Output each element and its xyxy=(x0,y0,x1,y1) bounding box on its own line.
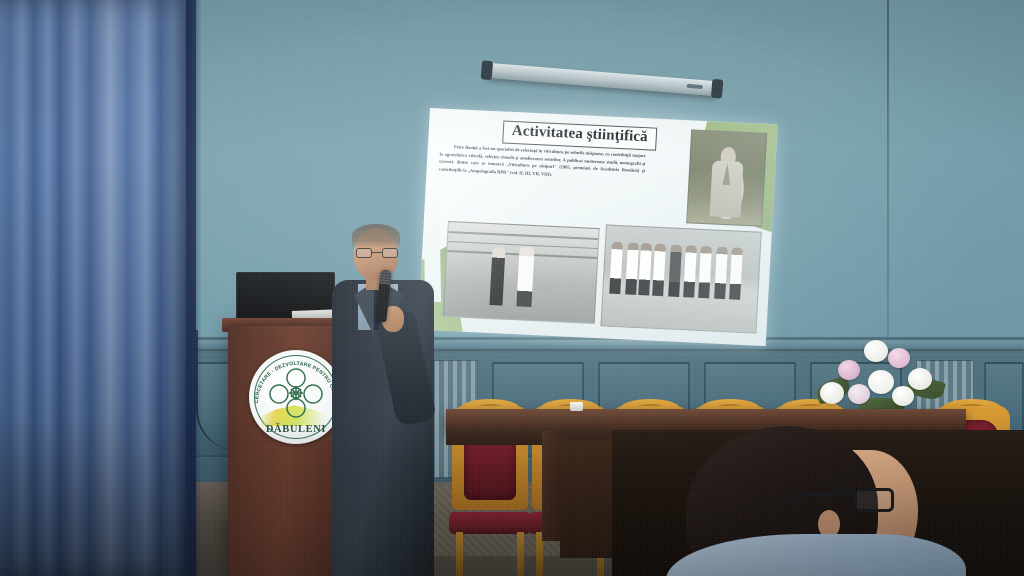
power-cable xyxy=(196,330,236,450)
conference-hall-photo: Activitatea ştiinţifică Petre Baniţă a f… xyxy=(0,0,1024,576)
group-person xyxy=(625,242,639,294)
group-person xyxy=(729,247,743,299)
group-person xyxy=(714,247,728,299)
screen-case-end-cap xyxy=(481,60,493,80)
bouquet-bloom-pink xyxy=(838,360,860,380)
screen-case-slot xyxy=(687,84,703,89)
emblem-label: DĂBULENI xyxy=(249,424,343,435)
bouquet-bloom-white xyxy=(820,382,844,404)
chair-leg xyxy=(517,532,524,576)
group-person xyxy=(668,244,682,296)
microphone-grille xyxy=(379,270,391,285)
bouquet-bloom-white xyxy=(908,368,932,390)
greenhouse-person-suit xyxy=(489,247,505,306)
presenter-hair xyxy=(352,224,400,248)
projected-slide: Activitatea ştiinţifică Petre Baniţă a f… xyxy=(418,108,778,346)
flower-bouquet xyxy=(812,336,948,420)
group-photo xyxy=(600,224,761,333)
bouquet-bloom-white xyxy=(864,340,888,362)
bouquet-bloom-white xyxy=(892,386,914,406)
group-person xyxy=(609,242,623,294)
chair-leg xyxy=(456,532,463,576)
bouquet-bloom-pink xyxy=(888,348,910,368)
slide-body-text: Petre Baniţă a fost un specialist de ref… xyxy=(438,143,645,183)
portrait-photo xyxy=(686,129,767,226)
group-person xyxy=(652,244,666,296)
group-person xyxy=(683,245,697,297)
institution-emblem: STAŢIUNEA DE CERCETARE - DEZVOLTARE PENT… xyxy=(249,350,343,444)
greenhouse-person-labcoat xyxy=(516,246,534,307)
glasses-lens xyxy=(382,248,398,258)
curtain-edge-shadow xyxy=(186,0,202,576)
group-person xyxy=(639,243,653,295)
presenter xyxy=(330,218,452,576)
foreground-attendee xyxy=(676,424,1024,576)
attendee-glasses xyxy=(854,488,924,512)
bouquet-bloom-pink xyxy=(848,384,870,404)
cup-on-table xyxy=(570,402,583,411)
greenhouse-beam xyxy=(448,231,598,240)
slide-surface: Activitatea ştiinţifică Petre Baniţă a f… xyxy=(418,108,778,346)
window-curtain xyxy=(0,0,196,576)
glasses-bridge xyxy=(372,252,382,253)
group-person xyxy=(699,246,713,298)
bouquet-bloom-white xyxy=(868,370,894,394)
glasses-lens xyxy=(356,248,372,258)
glasses-lens xyxy=(854,488,894,512)
chair-seat xyxy=(449,512,531,534)
greenhouse-photo xyxy=(443,221,600,324)
screen-case-end-cap xyxy=(711,79,723,99)
presenter-glasses xyxy=(356,248,398,258)
